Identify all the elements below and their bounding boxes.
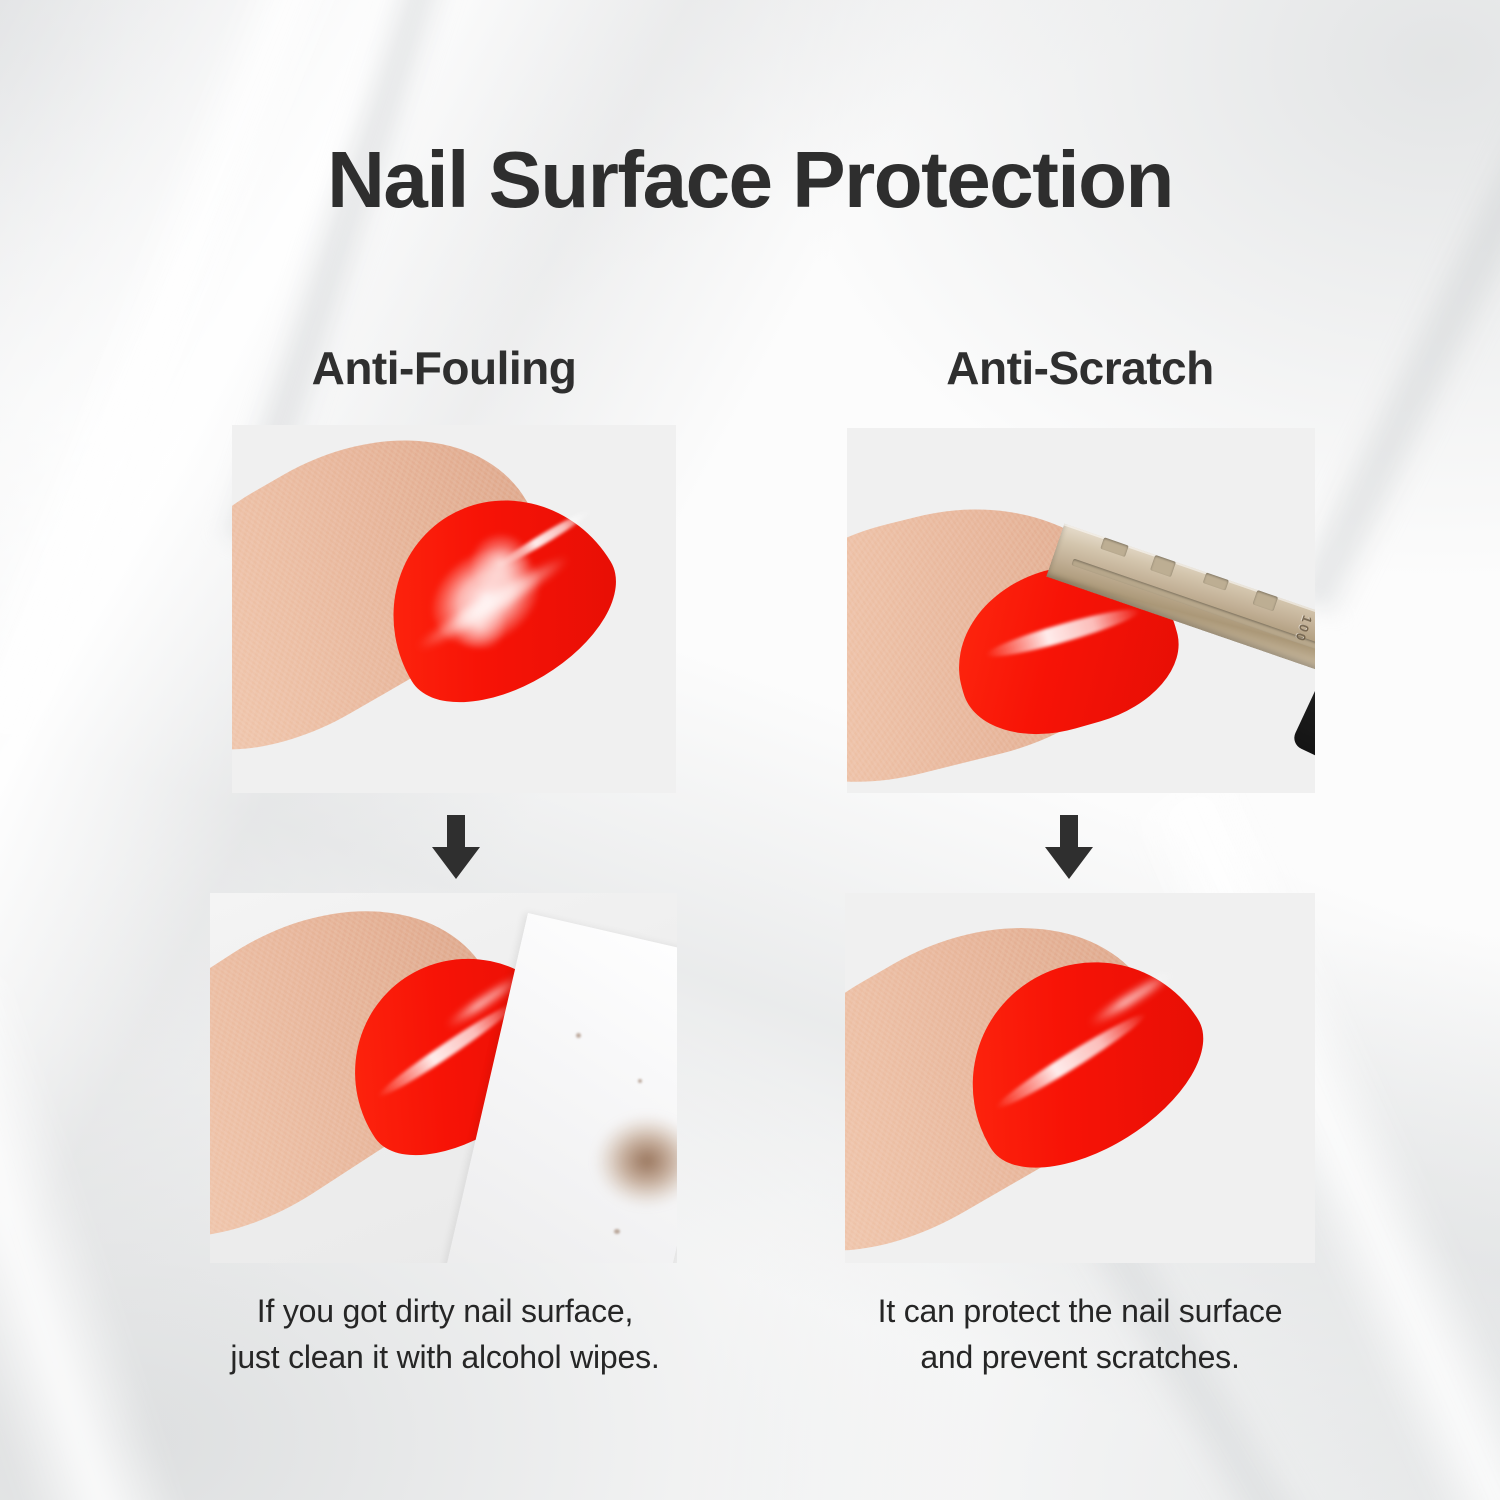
caption-anti-scratch: It can protect the nail surface and prev… [800,1288,1360,1381]
arrow-head [432,847,480,879]
caption-line: just clean it with alcohol wipes. [180,1334,710,1380]
product-infographic: Nail Surface Protection Anti-Fouling Ant… [0,0,1500,1500]
wipe-dirt-fleck [614,1229,620,1234]
caption-line: and prevent scratches. [800,1334,1360,1380]
arrow-shaft [447,815,465,849]
photo-anti-fouling-after [210,893,677,1263]
column-heading-anti-fouling: Anti-Fouling [210,341,678,395]
photo-anti-fouling-before [232,425,676,793]
photo-anti-scratch-after [845,893,1315,1263]
page-title: Nail Surface Protection [0,134,1500,226]
down-arrow-icon [427,815,485,881]
caption-line: It can protect the nail surface [800,1288,1360,1334]
caption-anti-fouling: If you got dirty nail surface, just clea… [180,1288,710,1381]
down-arrow-icon [1040,815,1098,881]
column-heading-anti-scratch: Anti-Scratch [845,341,1315,395]
arrow-shaft [1060,815,1078,849]
wipe-dirt-fleck [638,1079,642,1083]
wipe-dirt-fleck [576,1033,581,1038]
caption-line: If you got dirty nail surface, [180,1288,710,1334]
arrow-head [1045,847,1093,879]
photo-anti-scratch-before: 100 [847,428,1315,793]
